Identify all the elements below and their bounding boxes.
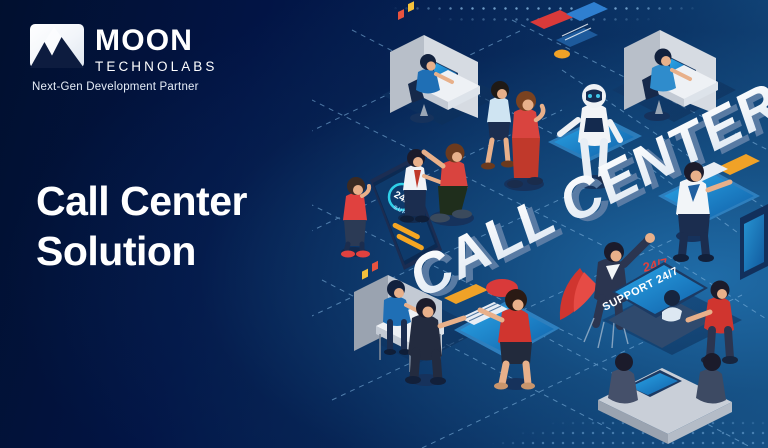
chat-bubble-blue [566,2,608,21]
logo-wordmark: MOON TECHNOLABS [95,24,218,74]
call-center-illustration: 24/7 SUPPORT [312,0,768,448]
mountain-m-logomark-icon [30,24,84,68]
agent-woman-left [341,177,370,258]
logo-row: MOON TECHNOLABS [30,24,260,74]
chat-bubble-darkblue [556,28,598,47]
logo-name: MOON [95,26,218,56]
logo-tagline: Next-Gen Development Partner [32,81,260,93]
page-title-line2: Solution [36,226,247,276]
coin-icon [554,50,570,59]
bottom-right-desk [598,353,732,444]
hero-banner: MOON TECHNOLABS Next-Gen Development Par… [0,0,768,448]
brand-logo[interactable]: MOON TECHNOLABS Next-Gen Development Par… [30,24,260,93]
page-title: Call Center Solution [36,176,247,276]
logo-subname: TECHNOLABS [95,60,218,74]
agent-man-red-pointing [424,144,474,227]
chat-bubble-red [530,10,574,29]
right-edge-panel [740,204,768,280]
page-title-line1: Call Center [36,178,247,224]
